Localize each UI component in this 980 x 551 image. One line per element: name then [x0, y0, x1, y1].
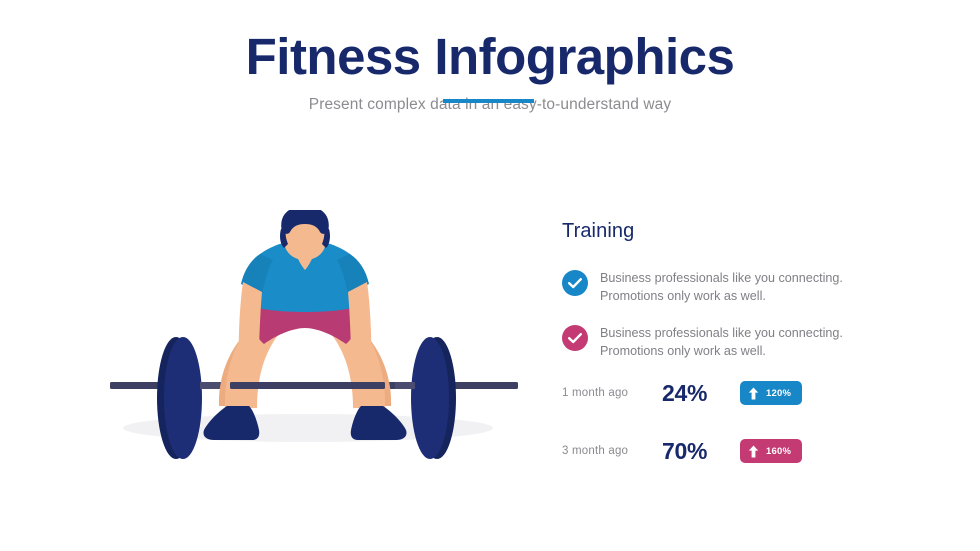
- arrow-up-icon: [748, 387, 759, 400]
- stat-percentage-value: 70%: [662, 438, 740, 465]
- table-row: 3 month ago 70% 160%: [562, 433, 902, 469]
- shoe-right: [351, 406, 407, 440]
- list-item-label: Business professionals like you connecti…: [600, 269, 892, 306]
- training-panel: Training Business professionals like you…: [562, 220, 892, 379]
- weightlifter-deadlift-illustration: [110, 210, 540, 460]
- bullet-list: Business professionals like you connecti…: [562, 269, 892, 361]
- status-badge-label: 160%: [766, 446, 791, 457]
- shoe-left: [203, 406, 259, 440]
- barbell-collar-right: [395, 382, 415, 389]
- slide-root: Fitness Infographics Present complex dat…: [0, 0, 980, 551]
- list-item: Business professionals like you connecti…: [562, 269, 892, 306]
- page-title: Fitness Infographics: [0, 30, 980, 84]
- stat-period-label: 1 month ago: [562, 387, 662, 399]
- athlete-figure: [203, 210, 406, 440]
- stats-table: 1 month ago 24% 120% 3 month ago 70%: [562, 375, 902, 491]
- barbell-plate-right: [411, 337, 456, 459]
- barbell-collar-left: [200, 382, 220, 389]
- list-item: Business professionals like you connecti…: [562, 324, 892, 361]
- stat-period-label: 3 month ago: [562, 445, 662, 457]
- arrow-up-icon: [748, 445, 759, 458]
- barbell-plate-left: [157, 337, 202, 459]
- title-underline-rule: [443, 99, 534, 103]
- status-badge: 120%: [740, 381, 802, 405]
- status-badge-label: 120%: [766, 388, 791, 399]
- check-circle-icon: [562, 270, 588, 296]
- barbell-bar-front: [230, 382, 385, 389]
- stat-percentage-value: 24%: [662, 380, 740, 407]
- status-badge: 160%: [740, 439, 802, 463]
- table-row: 1 month ago 24% 120%: [562, 375, 902, 411]
- list-item-label: Business professionals like you connecti…: [600, 324, 892, 361]
- check-circle-icon: [562, 325, 588, 351]
- panel-title: Training: [562, 220, 892, 243]
